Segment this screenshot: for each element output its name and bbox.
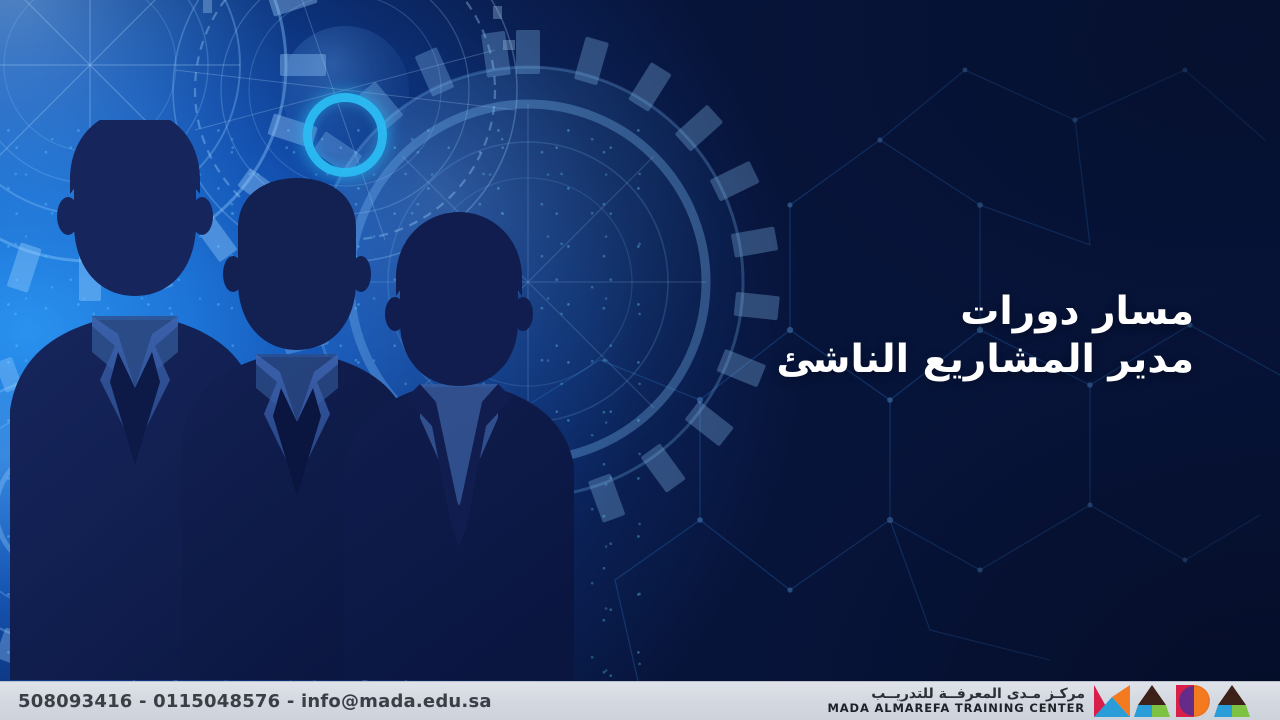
footer-bar: 508093416 - 0115048576 - info@mada.edu.s… [0,681,1280,720]
title-line-1: مسار دورات [776,288,1194,336]
brand-name-arabic: مركـز مـدى المعرفــة للتدريــب [828,687,1086,703]
mada-logo-icon [1094,683,1266,719]
brand-lockup: مركـز مـدى المعرفــة للتدريــب MADA ALMA… [828,683,1267,719]
contact-info: 508093416 - 0115048576 - info@mada.edu.s… [18,691,492,712]
title-line-2: مدير المشاريع الناشئ [776,336,1194,384]
brand-text: مركـز مـدى المعرفــة للتدريــب MADA ALMA… [828,687,1086,716]
banner-canvas: مسار دورات مدير المشاريع الناشئ 50809341… [0,0,1280,720]
people-silhouette-icon [0,120,640,680]
brand-name-english: MADA ALMAREFA TRAINING CENTER [828,702,1086,715]
banner-title: مسار دورات مدير المشاريع الناشئ [776,288,1194,383]
